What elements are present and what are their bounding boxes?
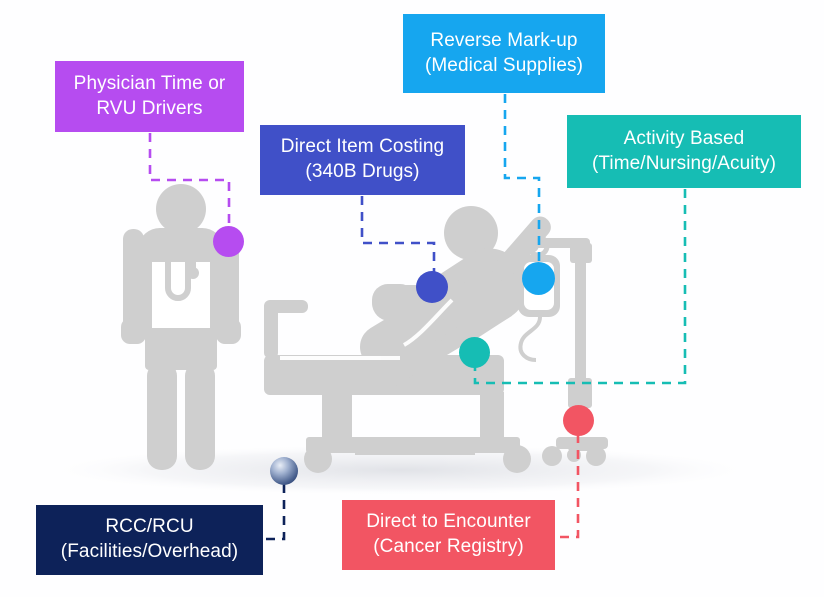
label-box-direct-item-costing[interactable]: Direct Item Costing (340B Drugs)	[260, 125, 465, 195]
rcc-rcu-line-1: RCC/RCU	[61, 515, 238, 540]
dot-physician-time[interactable]	[213, 226, 244, 257]
dot-direct-item-costing[interactable]	[416, 271, 448, 303]
physician-line-1: Physician Time or	[74, 72, 226, 97]
dot-reverse-markup[interactable]	[522, 262, 555, 295]
label-box-reverse-markup[interactable]: Reverse Mark-up (Medical Supplies)	[403, 14, 605, 93]
direct-encounter-line-1: Direct to Encounter	[366, 510, 531, 535]
label-box-rcc-rcu[interactable]: RCC/RCU (Facilities/Overhead)	[36, 505, 263, 575]
physician-line-2: RVU Drivers	[74, 97, 226, 122]
label-box-physician-time[interactable]: Physician Time or RVU Drivers	[55, 61, 244, 132]
reverse-markup-line-2: (Medical Supplies)	[425, 54, 583, 79]
reverse-markup-line-1: Reverse Mark-up	[425, 29, 583, 54]
rcc-rcu-line-2: (Facilities/Overhead)	[61, 540, 238, 565]
activity-based-line-1: Activity Based	[592, 127, 776, 152]
dot-rcc-rcu[interactable]	[270, 457, 298, 485]
direct-item-line-1: Direct Item Costing	[281, 135, 444, 160]
diagram-canvas: Physician Time or RVU Drivers Direct Ite…	[0, 0, 824, 597]
direct-encounter-line-2: (Cancer Registry)	[366, 535, 531, 560]
activity-based-line-2: (Time/Nursing/Acuity)	[592, 152, 776, 177]
dot-activity-based[interactable]	[459, 337, 490, 368]
label-box-activity-based[interactable]: Activity Based (Time/Nursing/Acuity)	[567, 115, 801, 188]
direct-item-line-2: (340B Drugs)	[281, 160, 444, 185]
dot-direct-to-encounter[interactable]	[563, 405, 594, 436]
label-box-direct-to-encounter[interactable]: Direct to Encounter (Cancer Registry)	[342, 500, 555, 570]
